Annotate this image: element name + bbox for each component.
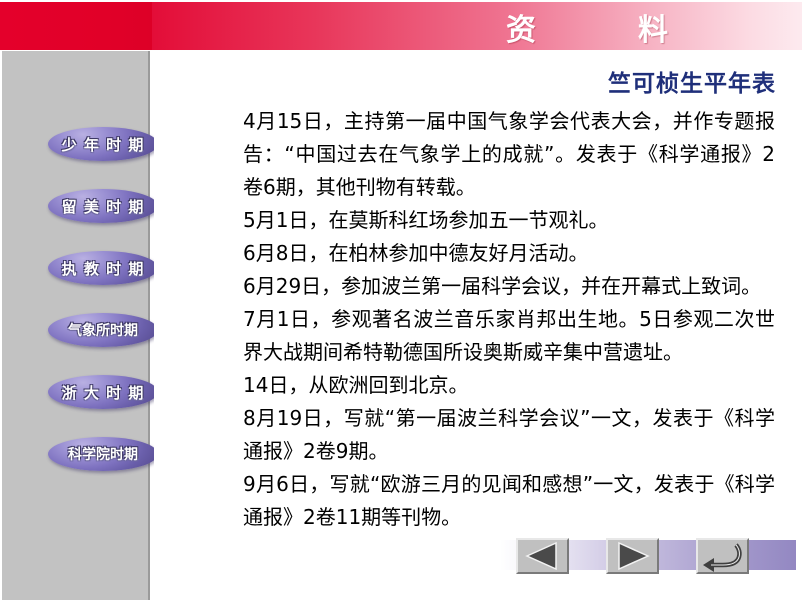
timeline-paragraph: 6月29日，参加波兰第一届科学会议，并在开幕式上致词。 (243, 270, 775, 303)
sidebar-item-youth[interactable]: 少 年 时 期 (48, 127, 158, 161)
timeline-paragraph: 5月1日，在莫斯科红场参加五一节观礼。 (243, 204, 775, 237)
slide-navigation-bar (500, 538, 796, 574)
timeline-body-text: 4月15日，主持第一届中国气象学会代表大会，并作专题报告：“中国过去在气象学上的… (243, 105, 775, 534)
timeline-paragraph: 8月19日，写就“第一届波兰科学会议”一文，发表于《科学通报》2卷9期。 (243, 402, 775, 468)
sidebar-item-zhejiang-university[interactable]: 浙 大 时 期 (48, 375, 158, 409)
sidebar-item-teaching[interactable]: 执 教 时 期 (48, 251, 158, 285)
content-pane: 竺可桢生平年表 4月15日，主持第一届中国气象学会代表大会，并作专题报告：“中国… (154, 51, 802, 600)
sidebar-item-academy-of-sciences[interactable]: 科学院时期 (48, 437, 158, 471)
timeline-paragraph: 14日，从欧洲回到北京。 (243, 369, 775, 402)
timeline-paragraph: 9月6日，写就“欧游三月的见闻和感想”一文，发表于《科学通报》2卷11期等刊物。 (243, 468, 775, 534)
return-arrow-icon (698, 540, 747, 572)
timeline-paragraph: 7月1日，参观著名波兰音乐家肖邦出生地。5日参观二次世界大战期间希特勒德国所设奥… (243, 303, 775, 369)
sidebar-item-label: 留 美 时 期 (62, 196, 145, 217)
triangle-left-icon (518, 540, 567, 572)
timeline-paragraph: 6月8日，在柏林参加中德友好月活动。 (243, 237, 775, 270)
timeline-paragraph: 4月15日，主持第一届中国气象学会代表大会，并作专题报告：“中国过去在气象学上的… (243, 105, 775, 204)
sidebar-item-label: 浙 大 时 期 (62, 382, 145, 403)
previous-slide-button[interactable] (516, 538, 569, 574)
sidebar-item-label: 少 年 时 期 (62, 134, 145, 155)
header-banner-gradient (152, 2, 802, 50)
header-banner-left-block (0, 2, 152, 50)
sidebar-item-label: 科学院时期 (68, 444, 138, 464)
content-subtitle: 竺可桢生平年表 (608, 64, 776, 98)
header-banner: 资 料 (0, 2, 802, 50)
sidebar-item-label: 气象所时期 (68, 320, 138, 340)
return-home-button[interactable] (696, 538, 749, 574)
sidebar-item-study-usa[interactable]: 留 美 时 期 (48, 189, 158, 223)
page-title: 资 料 (506, 5, 682, 49)
sidebar-nav-list: 少 年 时 期 留 美 时 期 执 教 时 期 气象所时期 浙 大 时 期 科学… (0, 51, 170, 600)
sidebar-item-meteorology-institute[interactable]: 气象所时期 (48, 313, 158, 347)
triangle-right-icon (608, 540, 657, 572)
next-slide-button[interactable] (606, 538, 659, 574)
sidebar-item-label: 执 教 时 期 (62, 258, 145, 279)
presentation-slide: 资 料 少 年 时 期 留 美 时 期 执 教 时 期 气象所时期 浙 大 时 … (0, 0, 802, 602)
